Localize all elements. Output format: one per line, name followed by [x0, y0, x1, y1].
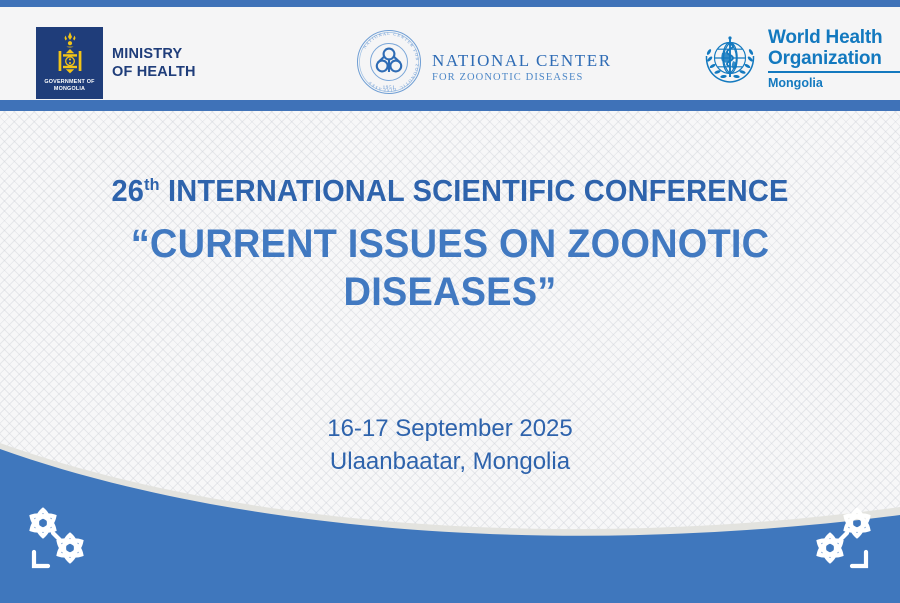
conference-number: 26 [112, 174, 145, 208]
conference-theme-line2: DISEASES” [23, 268, 878, 316]
ministry-name: MINISTRY OF HEALTH [112, 45, 196, 81]
who-name: World Health Organization Mongolia [768, 27, 900, 90]
mongolian-knot-left-icon [12, 496, 108, 576]
conference-ordinal: th [144, 175, 160, 194]
header-bottom-accent-bar [0, 100, 900, 111]
who-logo: World Health Organization Mongolia [700, 27, 900, 91]
national-center-name: NATIONAL CENTER FOR ZOONOTIC DISEASES [432, 39, 612, 85]
title-block: 26th INTERNATIONAL SCIENTIFIC CONFERENCE… [0, 172, 900, 316]
event-date: 16-17 September 2025 [0, 412, 900, 445]
ministry-of-health-logo: GOVERNMENT OF MONGOLIA MINISTRY OF HEALT… [36, 27, 196, 99]
ministry-name-line2: OF HEALTH [112, 63, 196, 81]
who-emblem-icon [700, 31, 760, 91]
conference-heading-text: INTERNATIONAL SCIENTIFIC CONFERENCE [160, 174, 789, 208]
national-center-name-line2: FOR ZOONOTIC DISEASES [432, 71, 612, 85]
national-center-logo: NATIONAL CENTER FOR ZOONOTIC DISEASES 19… [352, 25, 612, 99]
conference-title-slide: GOVERNMENT OF MONGOLIA MINISTRY OF HEALT… [0, 0, 900, 603]
soyombo-icon [50, 31, 90, 77]
who-name-line1: World Health [768, 27, 900, 48]
top-accent-bar [0, 0, 900, 7]
ministry-name-line1: MINISTRY [112, 45, 196, 63]
bottom-wave-decoration [0, 443, 900, 603]
government-of-mongolia-crest: GOVERNMENT OF MONGOLIA [36, 27, 103, 99]
conference-theme-line1: “CURRENT ISSUES ON ZOONOTIC [23, 220, 878, 268]
conference-theme: “CURRENT ISSUES ON ZOONOTIC DISEASES” [23, 220, 878, 316]
who-name-line2: Organization [768, 48, 900, 69]
nczd-seal-icon: NATIONAL CENTER FOR ZOONOTIC DISEASES 19… [352, 25, 426, 99]
seal-year: 1951 [383, 85, 396, 91]
logo-header-band: GOVERNMENT OF MONGOLIA MINISTRY OF HEALT… [0, 7, 900, 100]
national-center-name-line1: NATIONAL CENTER [432, 51, 612, 71]
who-divider [768, 71, 900, 73]
crest-caption: GOVERNMENT OF MONGOLIA [36, 79, 103, 93]
conference-heading: 26th INTERNATIONAL SCIENTIFIC CONFERENCE [23, 172, 878, 210]
who-country: Mongolia [768, 76, 900, 90]
mongolian-knot-right-icon [792, 496, 888, 576]
